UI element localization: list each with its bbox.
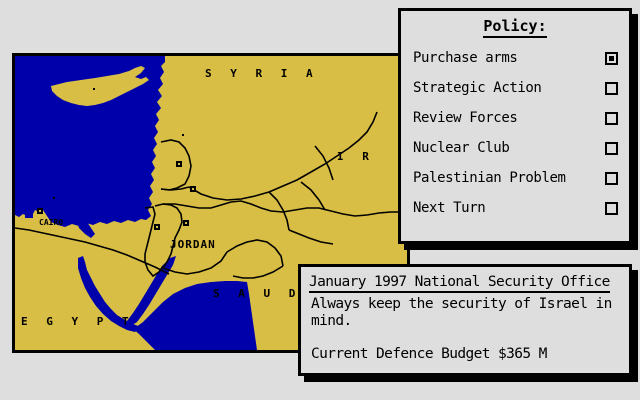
info-panel-message: Always keep the security of Israel in mi…	[311, 296, 621, 329]
policy-checkbox-palestinian-problem[interactable]	[605, 172, 618, 185]
policy-panel: Policy: Purchase arms Strategic Action R…	[398, 8, 632, 244]
game-screen: S Y R I A I R S A U D I E G Y P T JORDAN…	[0, 0, 640, 400]
policy-option-label: Strategic Action	[413, 80, 541, 96]
policy-panel-shadow-right	[632, 14, 638, 250]
policy-option-label: Next Turn	[413, 200, 485, 216]
city-marker-amman[interactable]	[183, 220, 189, 226]
policy-option-next-turn[interactable]: Next Turn	[401, 193, 629, 223]
cyprus-dot	[93, 88, 95, 90]
info-panel-shadow-bottom	[304, 376, 638, 382]
city-marker-beirut[interactable]	[176, 161, 182, 167]
policy-checkbox-next-turn[interactable]	[605, 202, 618, 215]
policy-option-label: Review Forces	[413, 110, 517, 126]
map-dot-alexandria	[53, 197, 55, 199]
map-label-cairo: CAIRO	[39, 219, 63, 227]
coast-notch	[25, 212, 33, 218]
policy-panel-title: Policy:	[401, 17, 629, 35]
national-security-office-panel: January 1997 National Security Office Al…	[298, 264, 632, 376]
policy-option-review-forces[interactable]: Review Forces	[401, 103, 629, 133]
policy-option-palestinian-problem[interactable]: Palestinian Problem	[401, 163, 629, 193]
defence-budget-readout: Current Defence Budget $365 M	[311, 346, 621, 362]
policy-checkbox-review-forces[interactable]	[605, 112, 618, 125]
policy-option-nuclear-club[interactable]: Nuclear Club	[401, 133, 629, 163]
city-marker-jerusalem[interactable]	[154, 224, 160, 230]
policy-option-label: Purchase arms	[413, 50, 517, 66]
policy-checkbox-nuclear-club[interactable]	[605, 142, 618, 155]
policy-option-label: Palestinian Problem	[413, 170, 566, 186]
map-label-syria: S Y R I A	[205, 68, 319, 79]
policy-panel-title-text: Policy:	[483, 17, 546, 38]
map-label-egypt: E G Y P T	[21, 316, 135, 327]
policy-checkbox-strategic-action[interactable]	[605, 82, 618, 95]
map-label-iraq: I R	[337, 151, 375, 162]
policy-panel-shadow-bottom	[404, 244, 638, 250]
policy-checkbox-purchase-arms[interactable]	[605, 52, 618, 65]
info-panel-headline: January 1997 National Security Office	[309, 274, 610, 293]
city-marker-damascus[interactable]	[190, 186, 196, 192]
checkbox-fill	[609, 56, 614, 61]
city-marker-cairo[interactable]	[37, 208, 43, 214]
policy-option-label: Nuclear Club	[413, 140, 509, 156]
info-panel-shadow-right	[632, 270, 638, 382]
map-label-jordan: JORDAN	[170, 239, 216, 250]
policy-option-purchase-arms[interactable]: Purchase arms	[401, 43, 629, 73]
policy-option-strategic-action[interactable]: Strategic Action	[401, 73, 629, 103]
map-dot-tripoli	[182, 134, 184, 136]
